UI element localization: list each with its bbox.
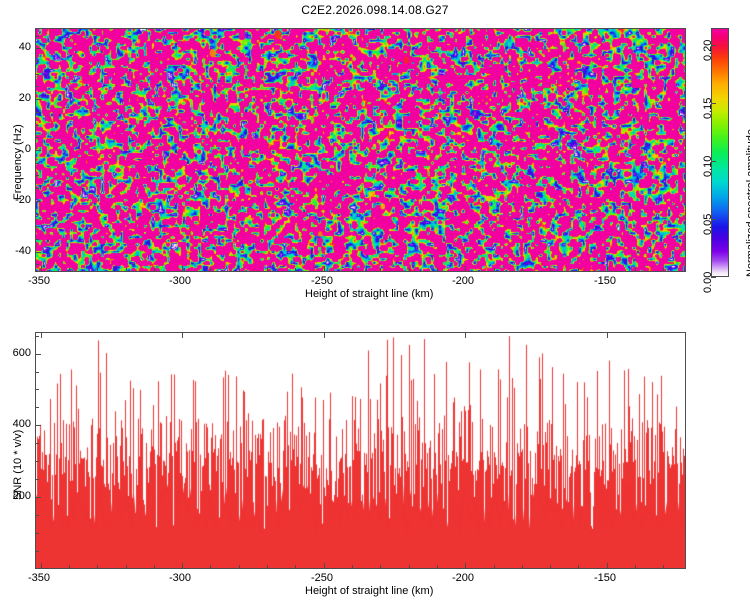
spectrogram-x-tick-label: -250 <box>311 275 333 287</box>
tick-mark <box>126 268 127 272</box>
snr-y-tick-label: 200 <box>8 490 31 502</box>
snr-y-tick-label: 600 <box>8 347 31 359</box>
tick-mark <box>35 551 39 552</box>
tick-mark <box>154 268 155 272</box>
snr-x-tick-label: -350 <box>28 572 50 584</box>
colorbar-tick-label: 0.05 <box>702 214 714 235</box>
tick-mark <box>97 565 98 569</box>
tick-mark <box>35 125 39 126</box>
tick-mark <box>550 268 551 272</box>
tick-mark <box>352 268 353 272</box>
tick-mark <box>35 36 39 37</box>
tick-mark <box>35 515 39 516</box>
snr-x-tick-label: -250 <box>311 572 333 584</box>
tick-mark <box>635 565 636 569</box>
tick-mark <box>35 214 39 215</box>
tick-mark <box>35 74 39 75</box>
spectrogram-x-tick-label: -200 <box>452 275 474 287</box>
tick-mark <box>465 266 466 272</box>
tick-mark <box>154 565 155 569</box>
tick-mark <box>182 332 183 338</box>
spectrogram-image <box>36 29 685 271</box>
tick-mark <box>126 565 127 569</box>
spectrogram-plot-area <box>35 28 686 272</box>
tick-mark <box>69 268 70 272</box>
spectrogram-x-axis-label: Height of straight line (km) <box>305 288 433 300</box>
tick-mark <box>324 563 325 569</box>
page-title: C2E2.2026.098.14.08.G27 <box>0 3 750 17</box>
tick-mark <box>35 443 39 444</box>
tick-mark <box>35 61 39 62</box>
tick-mark <box>465 332 466 338</box>
figure-canvas: C2E2.2026.098.14.08.G27 Frequency (Hz) -… <box>0 0 750 600</box>
tick-mark <box>35 479 39 480</box>
tick-mark <box>35 336 39 337</box>
snr-y-tick-label: 400 <box>8 418 31 430</box>
snr-x-tick-label: -150 <box>594 572 616 584</box>
tick-mark <box>35 86 39 87</box>
tick-mark <box>35 226 39 227</box>
tick-mark <box>35 201 41 202</box>
tick-mark <box>239 565 240 569</box>
tick-mark <box>465 563 466 569</box>
tick-mark <box>35 533 39 534</box>
tick-mark <box>380 565 381 569</box>
tick-mark <box>97 268 98 272</box>
snr-trace <box>36 333 685 568</box>
snr-x-tick-label: -200 <box>452 572 474 584</box>
tick-mark <box>41 563 42 569</box>
tick-mark <box>607 266 608 272</box>
tick-mark <box>578 565 579 569</box>
colorbar-label: Normalized spectral amplitude <box>745 129 750 277</box>
tick-mark <box>35 188 39 189</box>
tick-mark <box>210 268 211 272</box>
tick-mark <box>295 268 296 272</box>
tick-mark <box>35 264 39 265</box>
tick-mark <box>41 266 42 272</box>
tick-mark <box>35 137 39 138</box>
tick-mark <box>35 372 39 373</box>
tick-mark <box>35 48 41 49</box>
tick-mark <box>35 175 39 176</box>
tick-mark <box>35 389 39 390</box>
tick-mark <box>324 332 325 338</box>
tick-mark <box>267 268 268 272</box>
tick-mark <box>607 563 608 569</box>
tick-mark <box>409 268 410 272</box>
tick-mark <box>239 268 240 272</box>
tick-mark <box>324 266 325 272</box>
spectrogram-y-tick-label: 40 <box>11 41 31 53</box>
spectrogram-y-tick-label: -40 <box>11 245 31 257</box>
tick-mark <box>380 268 381 272</box>
tick-mark <box>35 99 41 100</box>
spectrogram-y-tick-label: 0 <box>11 143 31 155</box>
tick-mark <box>69 565 70 569</box>
snr-x-tick-label: -300 <box>169 572 191 584</box>
tick-mark <box>35 150 41 151</box>
tick-mark <box>522 565 523 569</box>
tick-mark <box>352 565 353 569</box>
tick-mark <box>494 565 495 569</box>
spectrogram-x-tick-label: -350 <box>28 275 50 287</box>
tick-mark <box>437 565 438 569</box>
tick-mark <box>35 407 39 408</box>
tick-mark <box>41 332 42 338</box>
tick-mark <box>182 563 183 569</box>
tick-mark <box>437 268 438 272</box>
tick-mark <box>663 268 664 272</box>
tick-mark <box>35 239 39 240</box>
snr-plot-area <box>35 332 686 569</box>
tick-mark <box>607 332 608 338</box>
tick-mark <box>295 565 296 569</box>
colorbar-tick-label: 0.00 <box>702 272 714 293</box>
tick-mark <box>578 268 579 272</box>
tick-mark <box>35 112 39 113</box>
tick-mark <box>35 163 39 164</box>
tick-mark <box>494 268 495 272</box>
spectrogram-y-tick-label: 20 <box>11 92 31 104</box>
tick-mark <box>267 565 268 569</box>
tick-mark <box>35 425 41 426</box>
tick-mark <box>522 268 523 272</box>
spectrogram-x-tick-label: -300 <box>169 275 191 287</box>
tick-mark <box>35 354 41 355</box>
snr-x-axis-label: Height of straight line (km) <box>305 585 433 597</box>
tick-mark <box>550 565 551 569</box>
tick-mark <box>663 565 664 569</box>
tick-mark <box>635 268 636 272</box>
tick-mark <box>35 497 41 498</box>
tick-mark <box>35 461 39 462</box>
spectrogram-x-tick-label: -150 <box>594 275 616 287</box>
spectrogram-y-axis-label: Frequency (Hz) <box>12 124 24 200</box>
colorbar-tick-label: 0.10 <box>702 156 714 177</box>
colorbar-tick-label: 0.15 <box>702 98 714 119</box>
tick-mark <box>210 565 211 569</box>
colorbar-tick-label: 0.20 <box>702 40 714 61</box>
tick-mark <box>182 266 183 272</box>
tick-mark <box>35 252 41 253</box>
spectrogram-y-tick-label: -20 <box>11 194 31 206</box>
colorbar <box>711 28 729 277</box>
tick-mark <box>409 565 410 569</box>
